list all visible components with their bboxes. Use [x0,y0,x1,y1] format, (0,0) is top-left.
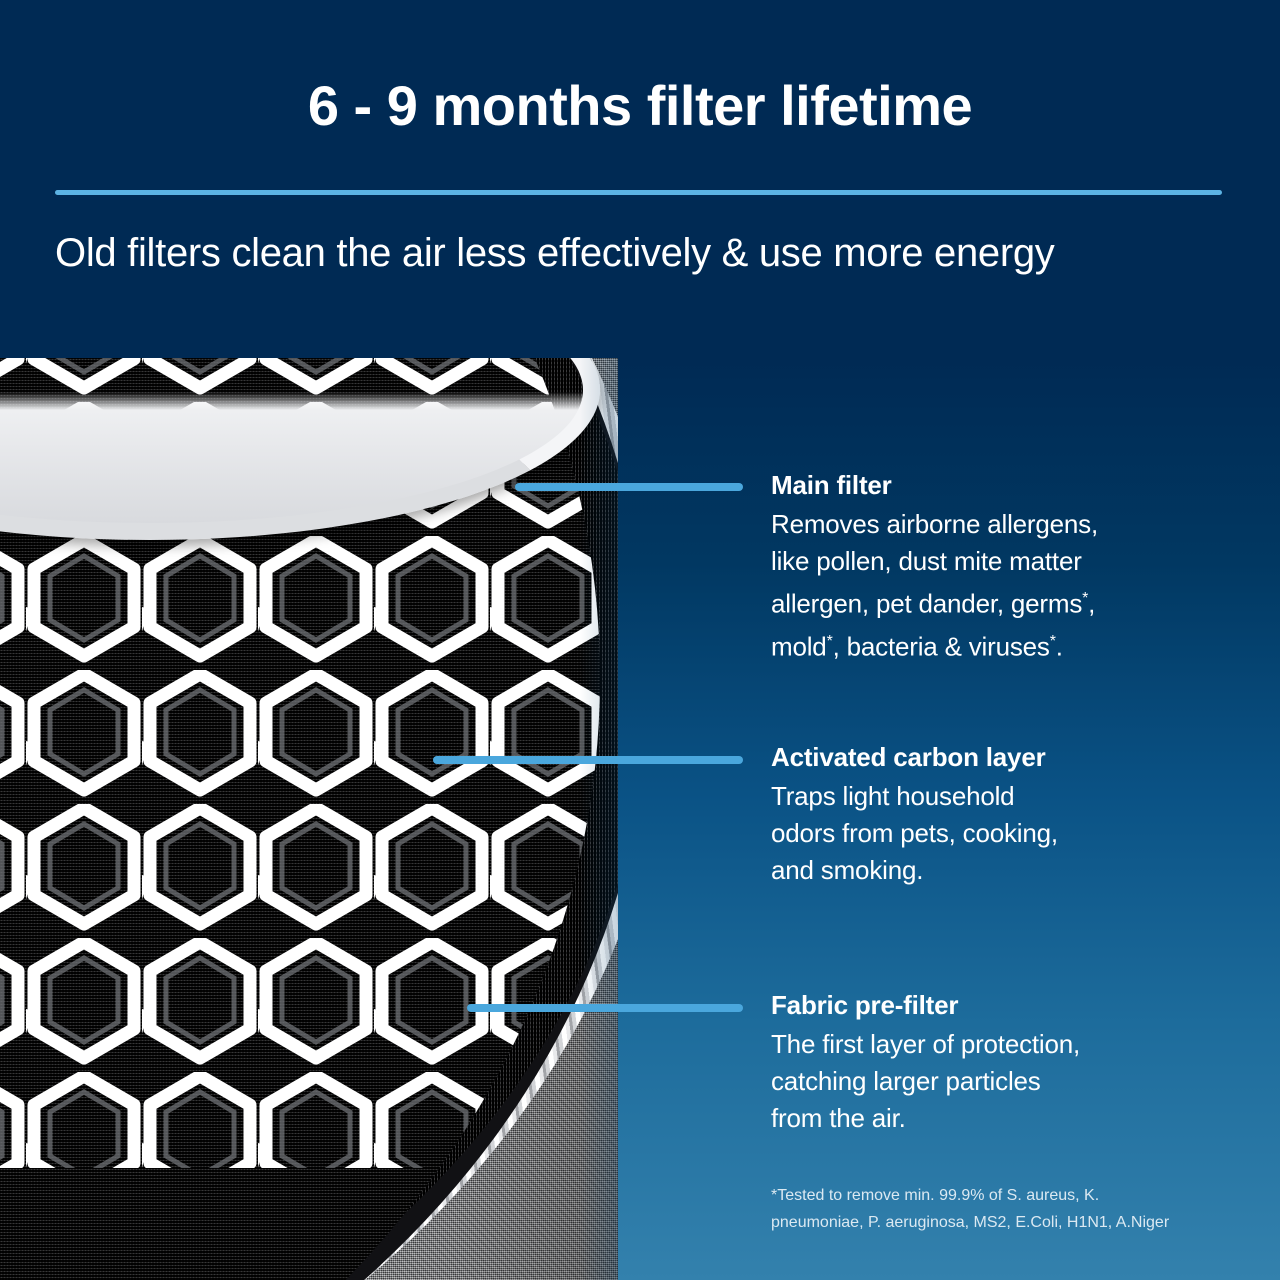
header-band: 6 - 9 months filter lifetime Old filters… [0,0,1280,358]
callout-body-line: Removes airborne allergens, [771,506,1219,543]
leader-line-main-filter [515,483,743,491]
callout-body-line: and smoking. [771,852,1219,889]
callout-body-line: allergen, pet dander, germs*, [771,580,1219,623]
callout-body-line: odors from pets, cooking, [771,815,1219,852]
leader-line-carbon-layer [433,756,743,764]
callout-main-filter: Main filter Removes airborne allergens, … [771,468,1219,665]
infographic-canvas: 6 - 9 months filter lifetime Old filters… [0,0,1280,1280]
product-photo [0,358,618,1280]
header-divider [55,190,1222,195]
callout-body-line: mold*, bacteria & viruses*. [771,623,1219,666]
footnote: *Tested to remove min. 99.9% of S. aureu… [771,1182,1211,1236]
callout-body-line: catching larger particles [771,1063,1219,1100]
footnote-line: pneumoniae, P. aeruginosa, MS2, E.Coli, … [771,1209,1211,1236]
leader-line-pre-filter [467,1004,743,1012]
photo-edge-fade [580,358,618,1280]
callout-body: Traps light household odors from pets, c… [771,778,1219,889]
callout-body-line: from the air. [771,1100,1219,1137]
callout-title: Fabric pre-filter [771,988,1219,1022]
callout-title: Main filter [771,468,1219,502]
footnote-line: *Tested to remove min. 99.9% of S. aureu… [771,1182,1211,1209]
callout-fabric-pre-filter: Fabric pre-filter The first layer of pro… [771,988,1219,1137]
callout-body-line: The first layer of protection, [771,1026,1219,1063]
callout-activated-carbon-layer: Activated carbon layer Traps light house… [771,740,1219,889]
callout-title: Activated carbon layer [771,740,1219,774]
callout-body-line: Traps light household [771,778,1219,815]
callout-body-line: like pollen, dust mite matter [771,543,1219,580]
page-title: 6 - 9 months filter lifetime [0,66,1280,146]
page-subtitle: Old filters clean the air less effective… [55,222,1235,284]
callout-body: The first layer of protection, catching … [771,1026,1219,1137]
callout-body: Removes airborne allergens, like pollen,… [771,506,1219,665]
